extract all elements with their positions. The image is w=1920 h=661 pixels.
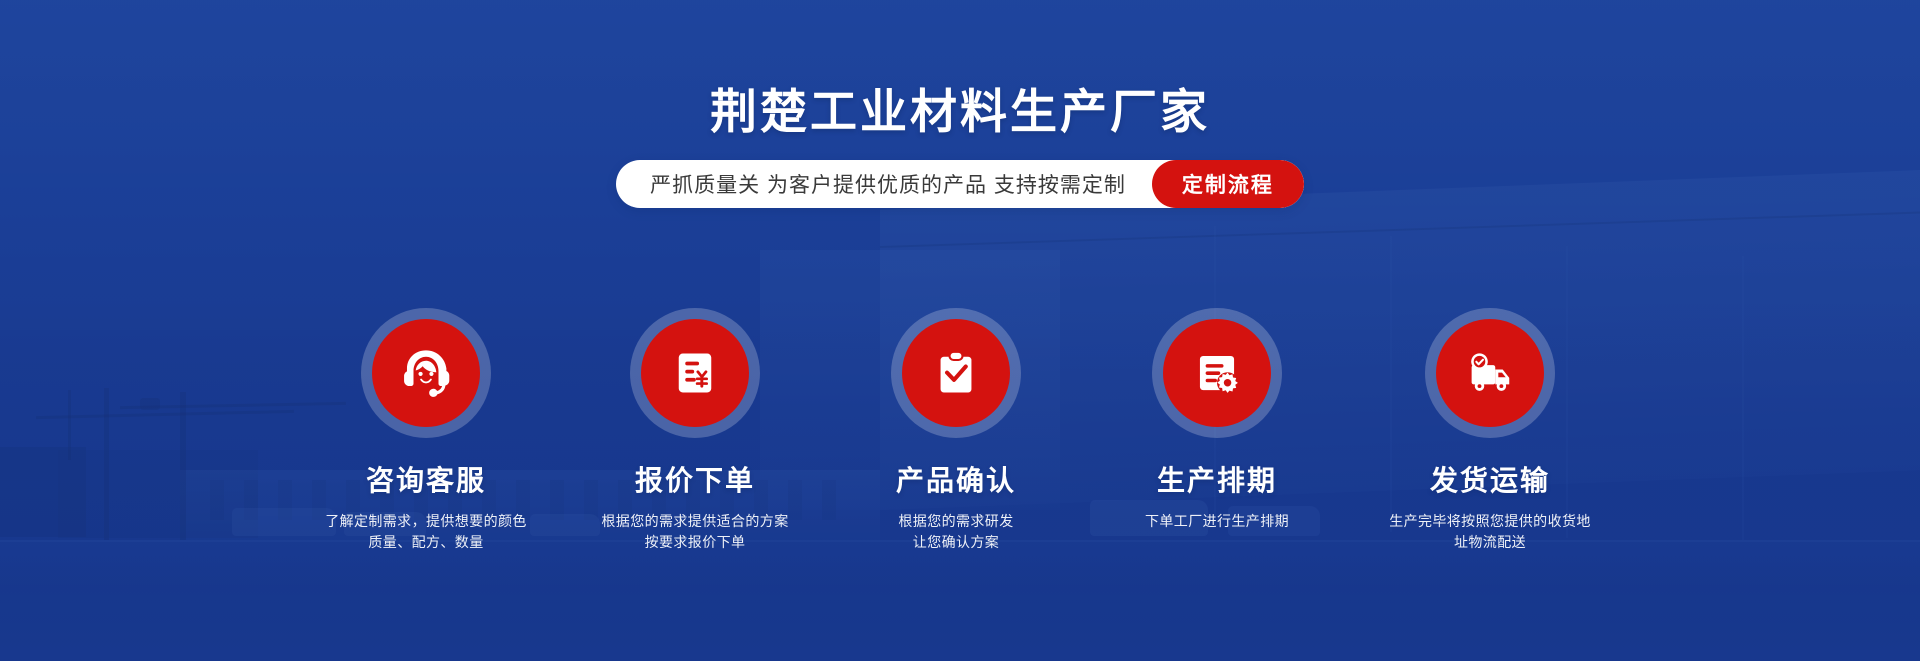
step-description-line: 生产完毕将按照您提供的收货地 [1360,511,1620,533]
step-icon-disc [1163,319,1271,427]
process-step-confirm[interactable]: 产品确认 根据您的需求研发 让您确认方案 [838,308,1074,554]
step-description-line: 质量、配方、数量 [300,532,552,554]
step-description-line: 址物流配送 [1360,532,1620,554]
step-icon-disc [1436,319,1544,427]
step-title: 生产排期 [1099,464,1335,498]
step-description-line: 根据您的需求提供适合的方案 [577,511,813,533]
step-description: 了解定制需求，提供想要的颜色 质量、配方、数量 [300,511,552,554]
step-description-line: 下单工厂进行生产排期 [1099,511,1335,533]
step-description-line: 按要求报价下单 [577,532,813,554]
step-description: 生产完毕将按照您提供的收货地 址物流配送 [1360,511,1620,554]
step-description-line: 让您确认方案 [838,532,1074,554]
delivery-truck-check-icon [1462,345,1518,401]
step-description: 根据您的需求提供适合的方案 按要求报价下单 [577,511,813,554]
step-icon-disc [641,319,749,427]
document-gear-icon [1191,347,1243,399]
step-description: 根据您的需求研发 让您确认方案 [838,511,1074,554]
step-icon-ring [361,308,491,438]
step-title: 产品确认 [838,464,1074,498]
step-title: 报价下单 [577,464,813,498]
step-icon-ring [1425,308,1555,438]
process-step-shipping[interactable]: 发货运输 生产完毕将按照您提供的收货地 址物流配送 [1360,308,1620,554]
step-description-line: 了解定制需求，提供想要的颜色 [300,511,552,533]
process-steps: 咨询客服 了解定制需求，提供想要的颜色 质量、配方、数量 [300,308,1620,554]
banner-headline: 荆楚工业材料生产厂家 [0,86,1920,139]
clipboard-check-icon [930,347,982,399]
process-step-schedule[interactable]: 生产排期 下单工厂进行生产排期 [1099,308,1335,532]
process-step-consult[interactable]: 咨询客服 了解定制需求，提供想要的颜色 质量、配方、数量 [300,308,552,554]
step-icon-disc [902,319,1010,427]
step-icon-ring [630,308,760,438]
step-title: 发货运输 [1360,464,1620,498]
promo-banner: 荆楚工业材料生产厂家 严抓质量关 为客户提供优质的产品 支持按需定制 定制流程 [0,0,1920,661]
step-icon-ring [891,308,1021,438]
step-icon-ring [1152,308,1282,438]
step-description: 下单工厂进行生产排期 [1099,511,1335,533]
slogan-pill: 严抓质量关 为客户提供优质的产品 支持按需定制 定制流程 [616,160,1304,208]
step-description-line: 根据您的需求研发 [838,511,1074,533]
process-step-quote[interactable]: 报价下单 根据您的需求提供适合的方案 按要求报价下单 [577,308,813,554]
step-title: 咨询客服 [300,464,552,498]
step-icon-disc [372,319,480,427]
invoice-yuan-icon [669,347,721,399]
headset-support-icon [397,344,455,402]
banner-content: 荆楚工业材料生产厂家 严抓质量关 为客户提供优质的产品 支持按需定制 定制流程 [0,0,1920,661]
custom-process-button[interactable]: 定制流程 [1152,160,1304,208]
slogan-pill-wrapper: 严抓质量关 为客户提供优质的产品 支持按需定制 定制流程 [0,160,1920,208]
slogan-text: 严抓质量关 为客户提供优质的产品 支持按需定制 [616,160,1152,208]
